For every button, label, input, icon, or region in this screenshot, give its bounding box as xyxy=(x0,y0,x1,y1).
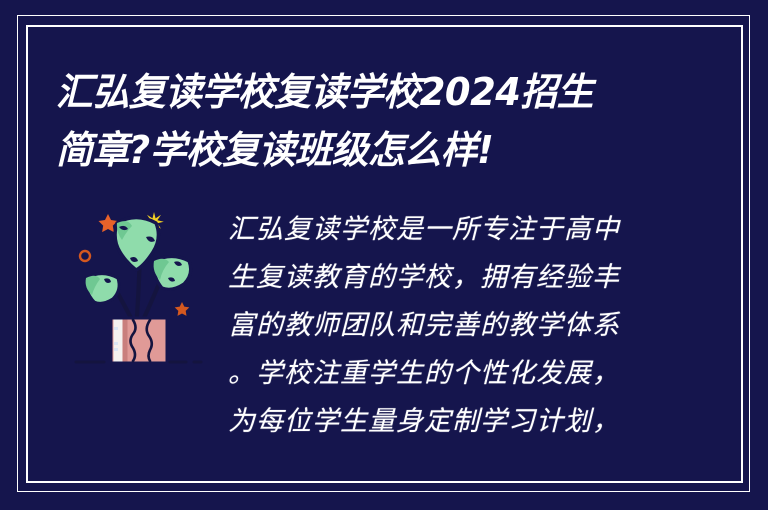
body-paragraph-line-3: 富的教师团队和完善的教学体系 xyxy=(228,302,660,350)
plant-leaf-left xyxy=(86,274,120,304)
body-paragraph-line-1: 汇弘复读学校是一所专注于高中 xyxy=(228,206,660,254)
ring-orange-icon xyxy=(80,251,90,261)
potted-plant-illustration xyxy=(70,196,210,366)
body-paragraph-line-2: 生复读教育的学校，拥有经验丰 xyxy=(228,254,660,302)
plant-leaf-top xyxy=(115,218,158,271)
sparkle-orange-small-icon xyxy=(175,302,190,316)
page-title-line-2: 简章?学校复读班级怎么样! xyxy=(56,121,696,179)
plant-pot xyxy=(111,318,167,363)
poster-canvas: 汇弘复读学校复读学校2024招生 简章?学校复读班级怎么样! xyxy=(0,0,768,510)
page-title-line-1: 汇弘复读学校复读学校2024招生 xyxy=(56,63,696,121)
page-title: 汇弘复读学校复读学校2024招生 简章?学校复读班级怎么样! xyxy=(56,63,696,179)
body-paragraph-line-4: 。学校注重学生的个性化发展， xyxy=(228,350,660,398)
plant-leaf-right xyxy=(154,257,191,290)
body-paragraph-line-5: 为每位学生量身定制学习计划， xyxy=(228,398,660,446)
body-paragraph: 汇弘复读学校是一所专注于高中 生复读教育的学校，拥有经验丰 富的教师团队和完善的… xyxy=(228,206,660,446)
